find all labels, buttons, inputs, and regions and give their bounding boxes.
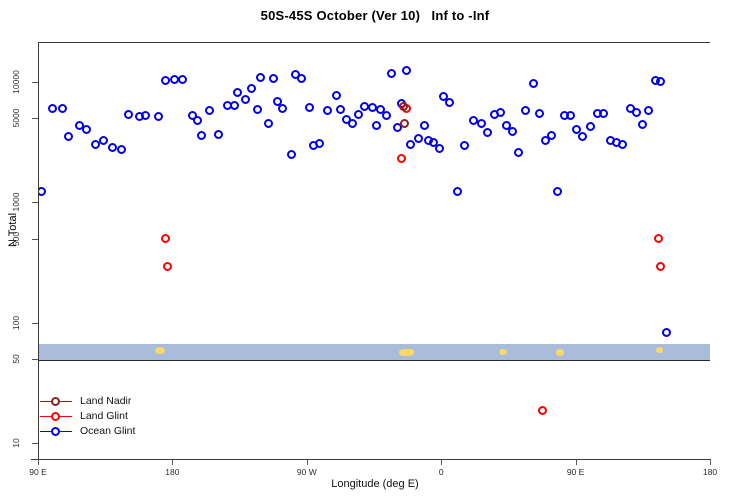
- data-point: [397, 154, 406, 163]
- data-point: [64, 132, 73, 141]
- data-point: [368, 103, 377, 112]
- data-point: [161, 76, 170, 85]
- data-point: [382, 111, 391, 120]
- y-tick-label-text: 1000: [11, 193, 21, 212]
- data-point: [141, 111, 150, 120]
- data-point: [161, 234, 170, 243]
- data-point: [586, 122, 595, 131]
- x-tick: [172, 459, 173, 465]
- threshold-line: [38, 360, 710, 361]
- data-point: [656, 77, 665, 86]
- y-tick: [32, 239, 38, 240]
- data-point: [508, 127, 517, 136]
- chart-title: 50S-45S October (Ver 10) Inf to -Inf: [0, 8, 750, 23]
- y-tick-label: 500: [4, 234, 28, 244]
- x-tick: [38, 459, 39, 465]
- data-point: [387, 69, 396, 78]
- data-point: [108, 143, 117, 152]
- y-tick-label-text: 10000: [11, 70, 21, 94]
- y-tick-label-text: 100: [11, 316, 21, 330]
- data-point: [38, 187, 46, 196]
- x-axis-line: [31, 459, 711, 460]
- legend-marker-icon: [51, 412, 60, 421]
- y-tick-label-text: 500: [11, 231, 21, 245]
- data-point: [230, 101, 239, 110]
- y-tick: [32, 323, 38, 324]
- data-point: [305, 103, 314, 112]
- data-point: [58, 104, 67, 113]
- data-point: [662, 328, 671, 337]
- data-point: [278, 104, 287, 113]
- data-point: [372, 121, 381, 130]
- data-point: [414, 134, 423, 143]
- y-tick-label-text: 50: [11, 354, 21, 363]
- chart-canvas: 50S-45S October (Ver 10) Inf to -Inf N T…: [0, 0, 750, 500]
- data-point: [154, 112, 163, 121]
- data-point: [420, 121, 429, 130]
- legend-item-label: Land Glint: [80, 409, 128, 424]
- y-tick: [32, 202, 38, 203]
- legend-marker-icon: [51, 427, 60, 436]
- y-tick-label: 50: [4, 354, 28, 364]
- data-point: [315, 139, 324, 148]
- x-axis-label: Longitude (deg E): [0, 478, 750, 490]
- x-tick: [710, 459, 711, 465]
- data-point: [599, 109, 608, 118]
- data-point: [453, 187, 462, 196]
- data-point: [402, 66, 411, 75]
- y-tick: [32, 359, 38, 360]
- y-tick-label: 1000: [4, 197, 28, 207]
- legend-item-label: Land Nadir: [80, 394, 131, 409]
- y-tick-label-text: 5000: [11, 109, 21, 128]
- x-tick-label: 0: [439, 467, 444, 477]
- data-point: [460, 141, 469, 150]
- data-point: [247, 84, 256, 93]
- data-point: [553, 187, 562, 196]
- data-point: [178, 75, 187, 84]
- data-point: [332, 91, 341, 100]
- data-point: [99, 136, 108, 145]
- data-point: [124, 110, 133, 119]
- data-point: [483, 128, 492, 137]
- data-point: [538, 406, 547, 415]
- data-point: [514, 148, 523, 157]
- data-point: [323, 106, 332, 115]
- below-threshold-marker: [556, 349, 565, 355]
- data-point: [638, 120, 647, 129]
- data-point: [163, 262, 172, 271]
- x-tick-label: 180: [703, 467, 717, 477]
- y-tick: [32, 443, 38, 444]
- data-point: [117, 145, 126, 154]
- x-tick-label: 90 W: [297, 467, 317, 477]
- data-point: [205, 106, 214, 115]
- data-point: [241, 95, 250, 104]
- y-tick-label-text: 10: [11, 438, 21, 447]
- data-point: [264, 119, 273, 128]
- y-tick-label: 100: [4, 318, 28, 328]
- threshold-band: [39, 344, 710, 360]
- legend-marker-icon: [51, 397, 60, 406]
- data-point: [618, 140, 627, 149]
- data-point: [297, 74, 306, 83]
- data-point: [348, 119, 357, 128]
- data-point: [82, 125, 91, 134]
- data-point: [233, 88, 242, 97]
- data-point: [521, 106, 530, 115]
- data-point: [535, 109, 544, 118]
- data-point: [253, 105, 262, 114]
- data-point: [644, 106, 653, 115]
- x-tick-label: 90 E: [567, 467, 585, 477]
- x-tick: [576, 459, 577, 465]
- y-tick-label: 10: [4, 438, 28, 448]
- x-tick-label: 90 E: [29, 467, 47, 477]
- x-tick: [307, 459, 308, 465]
- data-point: [336, 105, 345, 114]
- data-point: [566, 111, 575, 120]
- data-point: [269, 74, 278, 83]
- data-point: [193, 116, 202, 125]
- data-point: [435, 144, 444, 153]
- data-point: [529, 79, 538, 88]
- data-point: [214, 130, 223, 139]
- y-tick: [32, 118, 38, 119]
- data-point: [400, 119, 409, 128]
- legend-item[interactable]: Land Nadir: [40, 394, 190, 409]
- y-tick-label: 10000: [4, 77, 28, 87]
- data-point: [197, 131, 206, 140]
- data-point: [632, 108, 641, 117]
- data-point: [445, 98, 454, 107]
- data-point: [578, 132, 587, 141]
- legend: Land NadirLand GlintOcean Glint: [40, 394, 190, 439]
- y-tick-label: 5000: [4, 113, 28, 123]
- legend-item-label: Ocean Glint: [80, 424, 135, 439]
- y-tick: [32, 82, 38, 83]
- legend-item[interactable]: Land Glint: [40, 409, 190, 424]
- data-point: [656, 262, 665, 271]
- data-point: [654, 234, 663, 243]
- x-tick-label: 180: [165, 467, 179, 477]
- x-tick: [441, 459, 442, 465]
- data-point: [496, 108, 505, 117]
- data-point: [354, 110, 363, 119]
- data-point: [48, 104, 57, 113]
- data-point: [287, 150, 296, 159]
- data-point: [547, 131, 556, 140]
- data-point: [477, 119, 486, 128]
- data-point: [256, 73, 265, 82]
- legend-item[interactable]: Ocean Glint: [40, 424, 190, 439]
